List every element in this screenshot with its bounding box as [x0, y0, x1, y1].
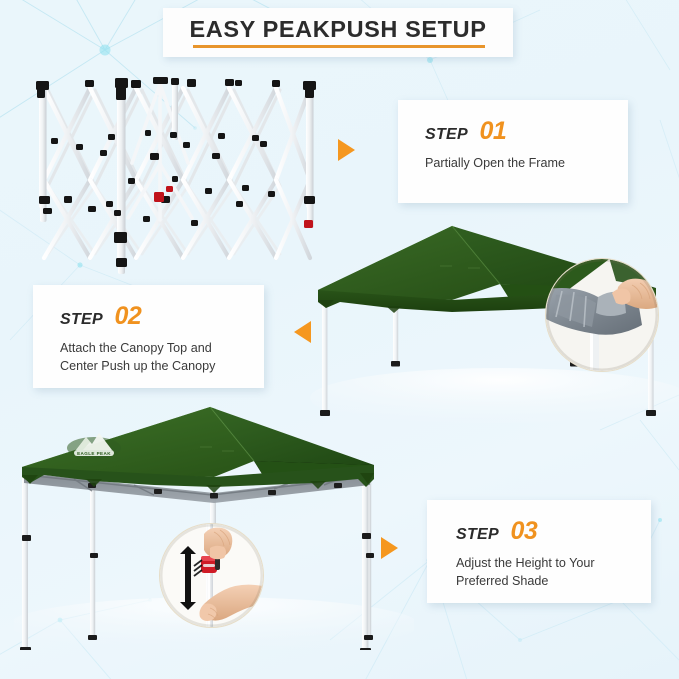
step-02-heading: STEP 02	[60, 304, 264, 329]
step-02-number: 02	[114, 302, 141, 330]
step-03-word: STEP	[456, 526, 499, 543]
svg-text:EAGLE PEAK: EAGLE PEAK	[77, 451, 111, 456]
step-03-heading: STEP 03	[456, 519, 651, 544]
arrow-right-icon-step-03	[381, 537, 398, 559]
step-02-desc-line-2: Center Push up the Canopy	[60, 358, 264, 376]
page-title-card: EASY PEAKPUSH SETUP	[163, 8, 513, 57]
step-03-desc-line-1: Adjust the Height to Your	[456, 555, 651, 573]
title-underline	[193, 45, 486, 48]
step-card-02: STEP 02 Attach the Canopy Top and Center…	[33, 285, 264, 388]
step-card-01: STEP 01 Partially Open the Frame	[398, 100, 628, 203]
step-01-heading: STEP 01	[425, 119, 628, 144]
step-01-desc-line-1: Partially Open the Frame	[425, 155, 628, 173]
step-03-desc-line-2: Preferred Shade	[456, 573, 651, 591]
collapsed-canopy-frame-illustration	[20, 68, 330, 280]
brand-logo-mark: EAGLE PEAK	[67, 433, 121, 459]
inset-hands-adjusting-height	[159, 523, 264, 628]
step-card-03: STEP 03 Adjust the Height to Your Prefer…	[427, 500, 651, 603]
arrow-left-icon-step-02	[294, 321, 311, 343]
step-03-number: 03	[510, 517, 537, 545]
step-02-desc-line-1: Attach the Canopy Top and	[60, 340, 264, 358]
inset-hand-attaching-canopy	[545, 258, 659, 372]
infographic-stage: EAGLE PEAK	[0, 0, 679, 679]
arrow-right-icon-step-01	[338, 139, 355, 161]
step-02-word: STEP	[60, 311, 103, 328]
page-title: EASY PEAKPUSH SETUP	[190, 18, 487, 42]
step-01-word: STEP	[425, 126, 468, 143]
step-01-number: 01	[479, 117, 506, 145]
